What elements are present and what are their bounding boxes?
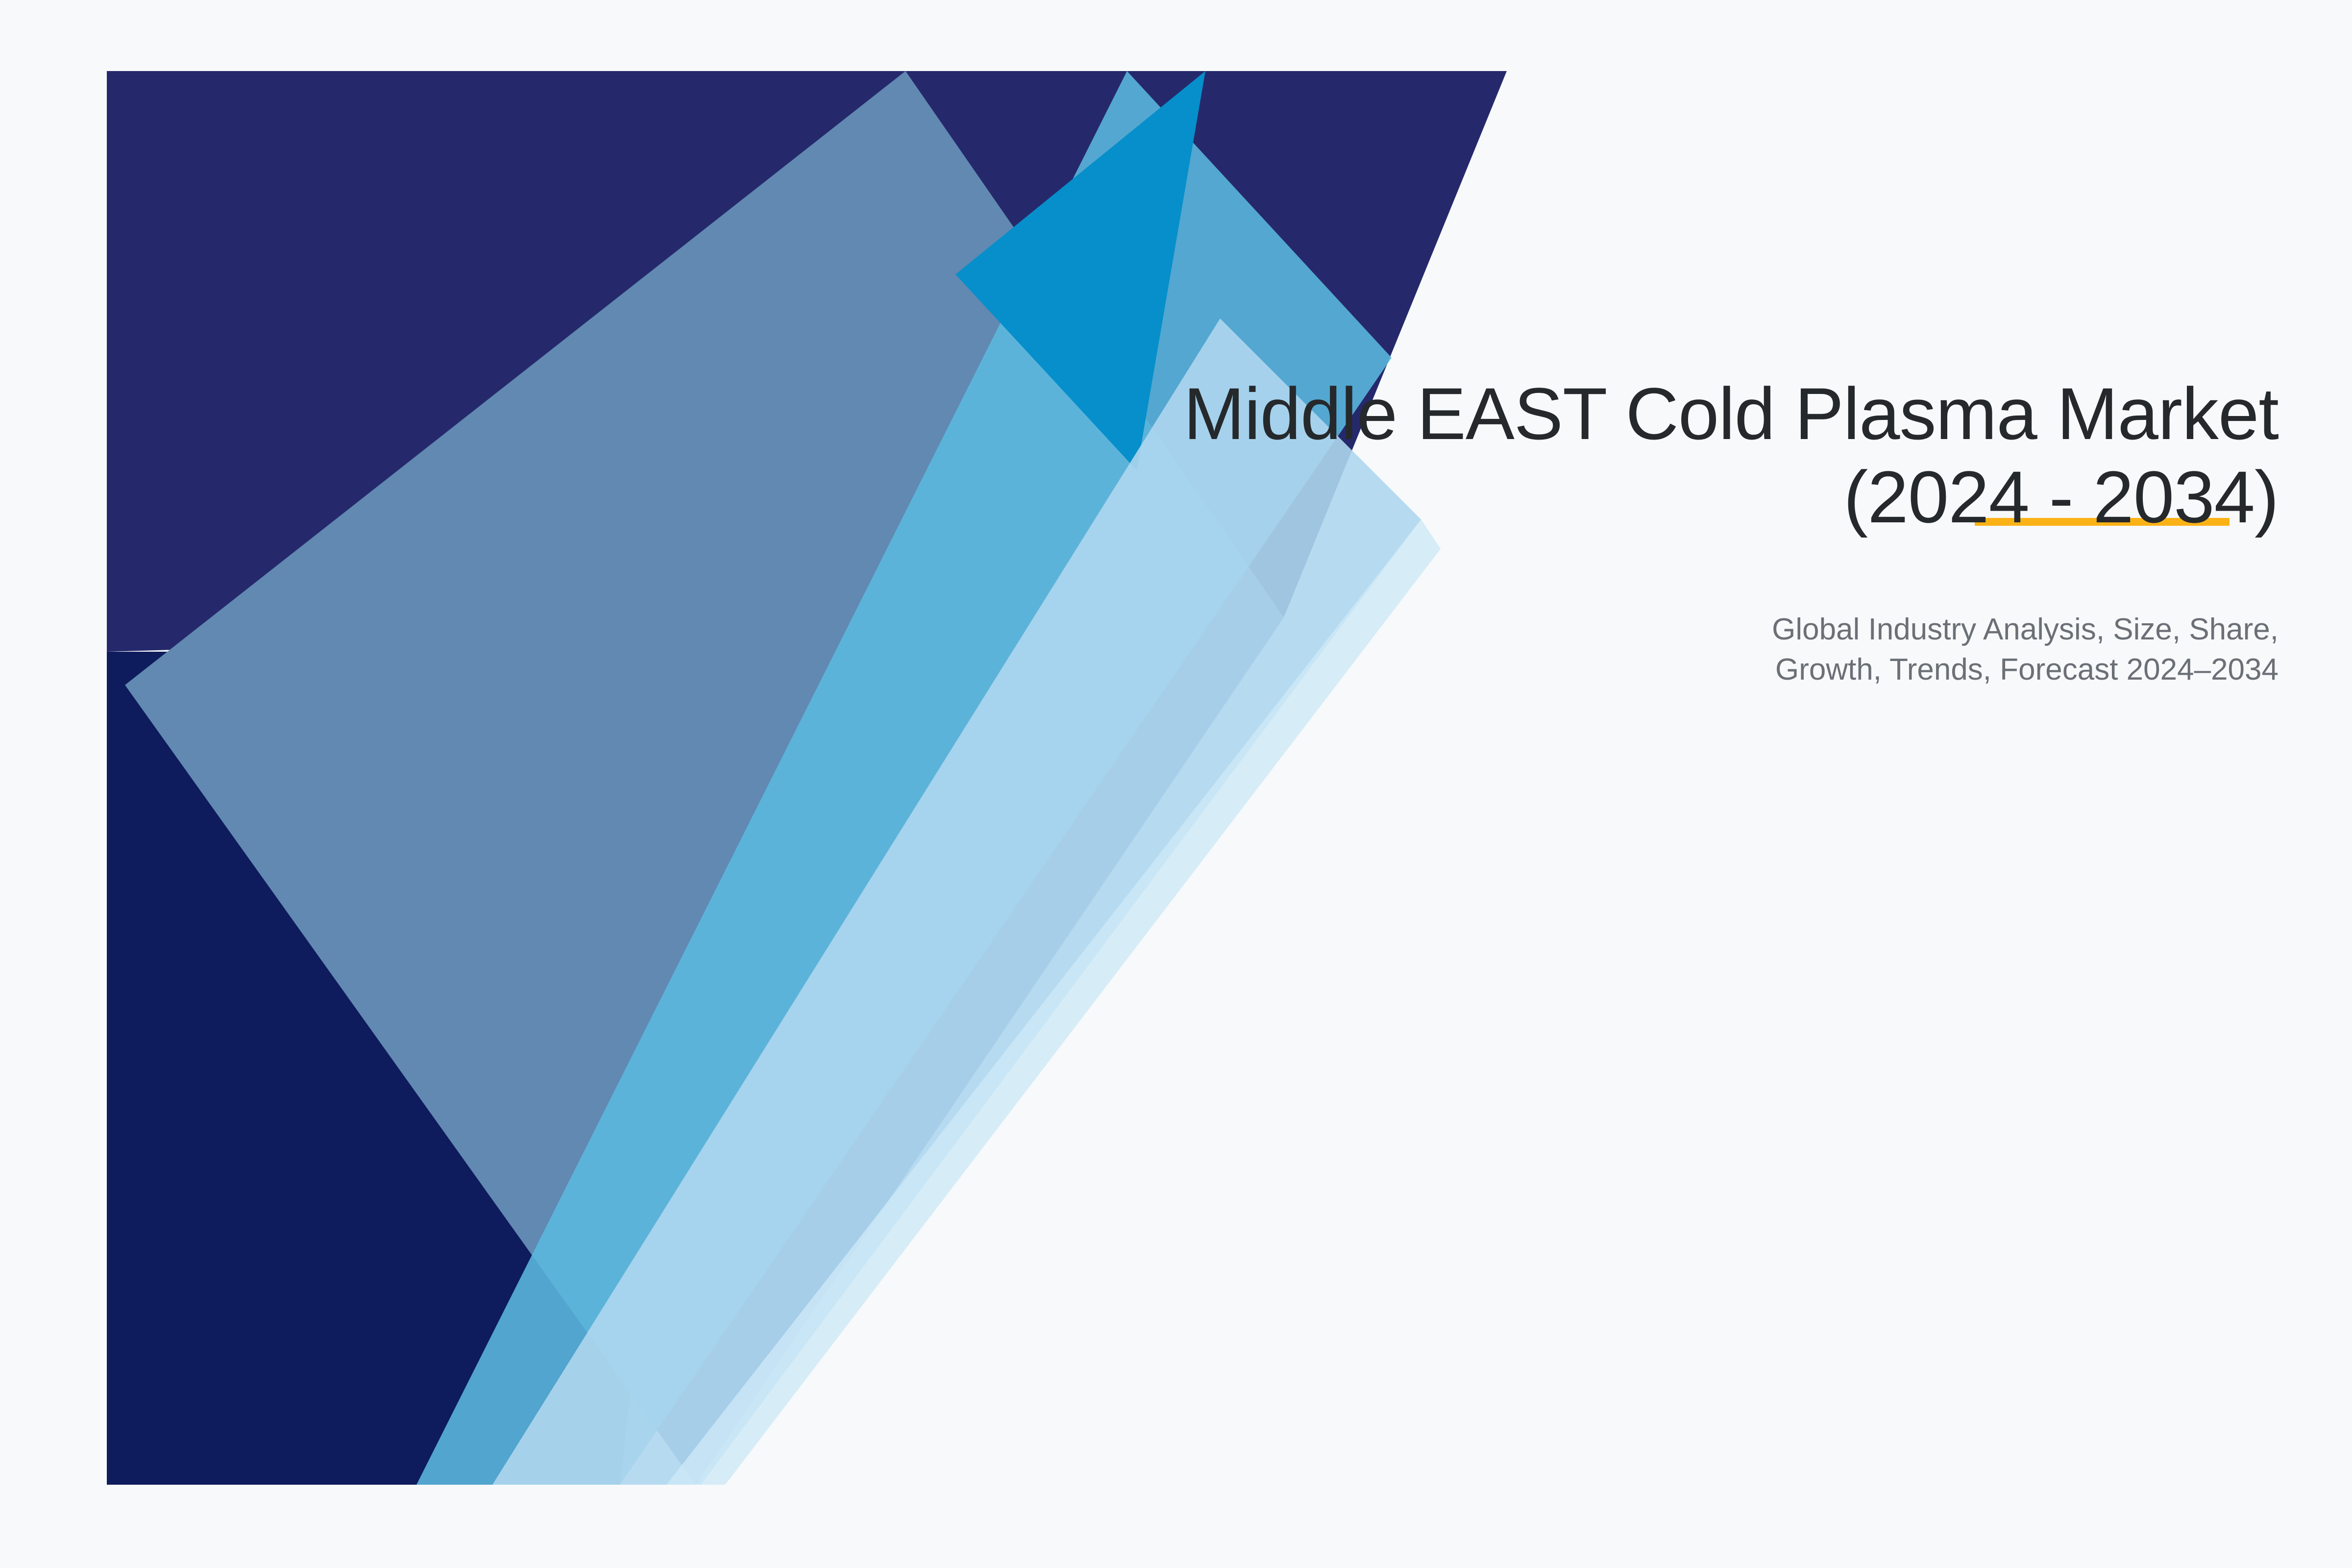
page-title-line-1: Middle EAST Cold Plasma Market: [857, 372, 2278, 456]
page-title-line-2: (2024 - 2034): [1843, 456, 2278, 538]
page-subtitle-line-2: Growth, Trends, Forecast 2024–2034: [857, 650, 2278, 690]
page-subtitle: Global Industry Analysis, Size, Share, G…: [857, 610, 2278, 690]
page-title-line-2-row: (2024 - 2034): [857, 456, 2278, 539]
page-title-line-2-wrapper: (2024 - 2034): [1843, 456, 2278, 539]
title-block: Middle EAST Cold Plasma Market (2024 - 2…: [857, 372, 2278, 690]
page-subtitle-line-1: Global Industry Analysis, Size, Share,: [857, 610, 2278, 650]
abstract-polygon-artwork: [0, 0, 2352, 1568]
report-cover-page: Middle EAST Cold Plasma Market (2024 - 2…: [0, 0, 2352, 1568]
